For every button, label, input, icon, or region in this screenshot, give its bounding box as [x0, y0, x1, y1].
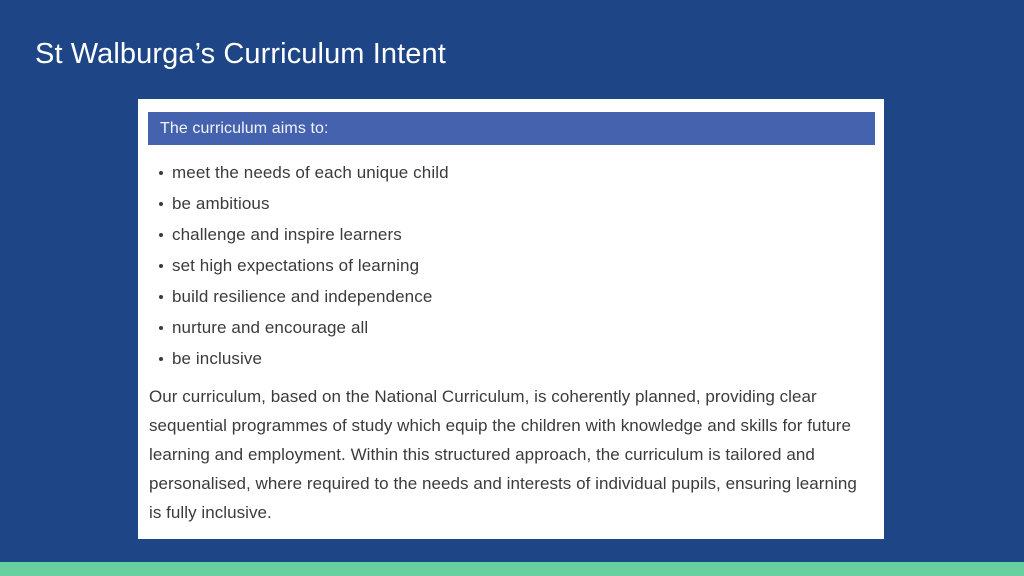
section-header-band: The curriculum aims to:	[148, 112, 875, 145]
content-card: The curriculum aims to: meet the needs o…	[138, 99, 884, 539]
curriculum-intent-paragraph: Our curriculum, based on the National Cu…	[149, 382, 867, 527]
list-item: meet the needs of each unique child	[149, 157, 869, 188]
bullet-icon	[159, 202, 163, 206]
list-item: be ambitious	[149, 188, 869, 219]
bullet-icon	[159, 357, 163, 361]
bottom-accent-strip	[0, 562, 1024, 576]
bullet-icon	[159, 171, 163, 175]
list-item-label: challenge and inspire learners	[172, 224, 402, 246]
list-item-label: meet the needs of each unique child	[172, 162, 449, 184]
bullet-icon	[159, 233, 163, 237]
list-item: nurture and encourage all	[149, 312, 869, 343]
list-item-label: be inclusive	[172, 348, 262, 370]
list-item-label: set high expectations of learning	[172, 255, 419, 277]
list-item: build resilience and independence	[149, 281, 869, 312]
list-item: set high expectations of learning	[149, 250, 869, 281]
bullet-icon	[159, 326, 163, 330]
list-item-label: build resilience and independence	[172, 286, 432, 308]
bullet-icon	[159, 264, 163, 268]
list-item: challenge and inspire learners	[149, 219, 869, 250]
page-title: St Walburga’s Curriculum Intent	[35, 36, 446, 72]
list-item: be inclusive	[149, 343, 869, 374]
list-item-label: nurture and encourage all	[172, 317, 368, 339]
section-header-label: The curriculum aims to:	[148, 119, 329, 139]
bullet-icon	[159, 295, 163, 299]
list-item-label: be ambitious	[172, 193, 270, 215]
curriculum-aims-list: meet the needs of each unique child be a…	[149, 157, 869, 374]
